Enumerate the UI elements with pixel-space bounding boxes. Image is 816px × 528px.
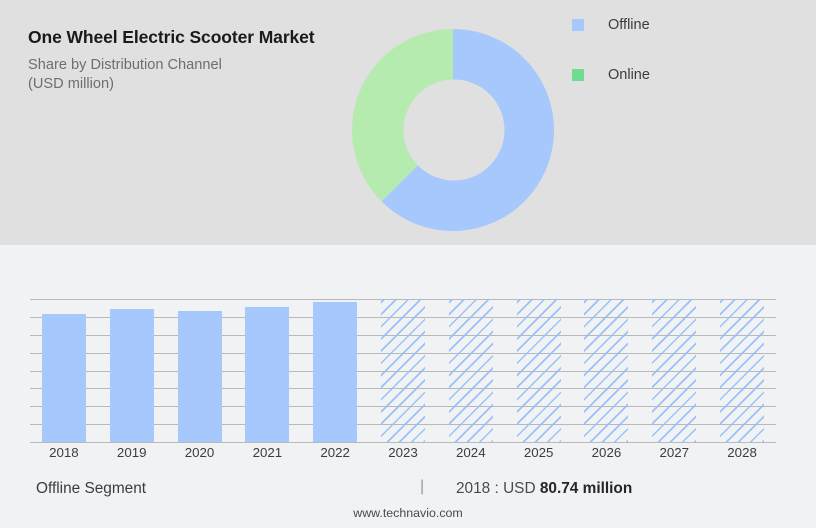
footer-separator: | xyxy=(420,478,424,496)
subtitle-line-2: (USD million) xyxy=(28,76,114,92)
x-axis-label: 2019 xyxy=(98,445,166,460)
chart-legend: Offline Online xyxy=(572,14,650,114)
bar-fill xyxy=(652,299,696,442)
bar-chart: 2018201920202021202220232024202520262027… xyxy=(0,245,816,470)
footer-url: www.technavio.com xyxy=(0,506,816,520)
bar-forecast[interactable] xyxy=(381,299,425,442)
bar-forecast[interactable] xyxy=(517,299,561,442)
legend-item-offline[interactable]: Offline xyxy=(572,14,650,36)
bar-fill xyxy=(313,302,357,442)
bar-forecast[interactable] xyxy=(449,299,493,442)
bar-historical[interactable] xyxy=(313,299,357,442)
footer: Offline Segment | 2018 : USD 80.74 milli… xyxy=(0,470,816,528)
x-axis-label: 2027 xyxy=(640,445,708,460)
bar-fill xyxy=(178,311,222,442)
legend-item-online[interactable]: Online xyxy=(572,64,650,86)
x-axis-label: 2028 xyxy=(708,445,776,460)
donut-slice-online[interactable] xyxy=(352,29,453,201)
bar-forecast[interactable] xyxy=(652,299,696,442)
chart-bars xyxy=(30,299,776,442)
footer-segment-label: Offline Segment xyxy=(36,480,146,498)
header-panel: One Wheel Electric Scooter Market Share … xyxy=(0,0,816,245)
footer-value-amount: 80.74 million xyxy=(540,480,632,497)
bar-fill xyxy=(517,299,561,442)
title-block: One Wheel Electric Scooter Market Share … xyxy=(28,26,328,95)
legend-label-offline: Offline xyxy=(608,17,650,33)
page-title: One Wheel Electric Scooter Market xyxy=(28,26,328,50)
x-axis-label: 2018 xyxy=(30,445,98,460)
x-axis-label: 2021 xyxy=(233,445,301,460)
bar-fill xyxy=(584,299,628,442)
x-axis-label: 2022 xyxy=(301,445,369,460)
bar-fill xyxy=(381,299,425,442)
bar-fill xyxy=(449,299,493,442)
bar-historical[interactable] xyxy=(110,299,154,442)
footer-value: 2018 : USD 80.74 million xyxy=(456,480,632,498)
subtitle-line-1: Share by Distribution Channel xyxy=(28,57,222,73)
bar-forecast[interactable] xyxy=(584,299,628,442)
gridline xyxy=(30,442,776,443)
footer-value-year: 2018 : USD xyxy=(456,480,536,497)
bar-fill xyxy=(720,299,764,442)
chart-x-axis-labels: 2018201920202021202220232024202520262027… xyxy=(30,445,776,467)
x-axis-label: 2025 xyxy=(505,445,573,460)
donut-chart xyxy=(352,29,554,231)
bar-forecast[interactable] xyxy=(720,299,764,442)
legend-swatch-offline xyxy=(572,19,584,31)
x-axis-label: 2023 xyxy=(369,445,437,460)
bar-historical[interactable] xyxy=(178,299,222,442)
bar-fill xyxy=(42,314,86,442)
x-axis-label: 2020 xyxy=(166,445,234,460)
bar-historical[interactable] xyxy=(42,299,86,442)
page-subtitle: Share by Distribution Channel (USD milli… xyxy=(28,56,328,95)
legend-label-online: Online xyxy=(608,67,650,83)
legend-swatch-online xyxy=(572,69,584,81)
bar-fill xyxy=(110,309,154,442)
x-axis-label: 2026 xyxy=(572,445,640,460)
x-axis-label: 2024 xyxy=(437,445,505,460)
bar-historical[interactable] xyxy=(245,299,289,442)
bar-fill xyxy=(245,307,289,442)
donut-svg xyxy=(352,29,554,231)
